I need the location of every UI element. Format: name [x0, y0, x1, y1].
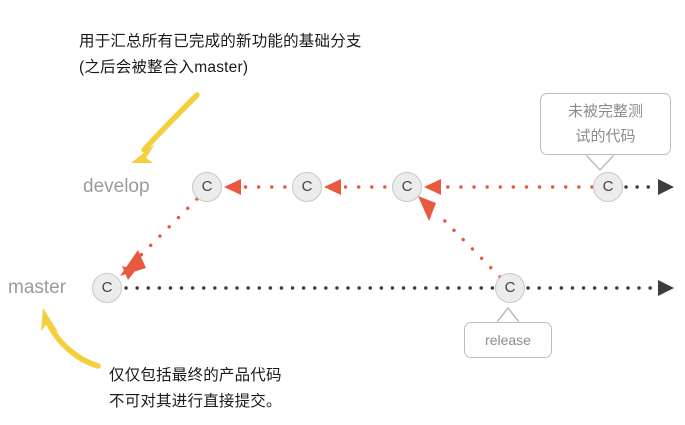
branch-develop-to-master	[120, 199, 197, 276]
commit-node-develop-3[interactable]: C	[392, 172, 422, 202]
highlight-arrow-master	[41, 308, 98, 366]
master-timeline	[126, 280, 674, 296]
callout-release-label: release	[464, 322, 552, 358]
commit-node-develop-4[interactable]: C	[593, 172, 623, 202]
callout-release-tail	[497, 308, 519, 323]
branch-label-master: master	[8, 278, 66, 297]
callout-untested-code: 未被完整测 试的代码	[540, 93, 671, 155]
commit-node-develop-1[interactable]: C	[192, 172, 222, 202]
develop-timeline-tail	[626, 179, 674, 195]
callout-untested-tail	[586, 154, 614, 170]
gitflow-diagram: 用于汇总所有已完成的新功能的基础分支 (之后会被整合入master) 仅仅包括最…	[0, 0, 685, 425]
merge-release-to-develop	[418, 196, 500, 277]
commit-node-develop-2[interactable]: C	[292, 172, 322, 202]
master-annotation-text: 仅仅包括最终的产品代码 不可对其进行直接提交。	[109, 363, 282, 415]
develop-annotation-text: 用于汇总所有已完成的新功能的基础分支 (之后会被整合入master)	[79, 29, 362, 81]
commit-node-master-release[interactable]: C	[495, 273, 525, 303]
highlight-arrow-develop	[131, 95, 197, 163]
branch-label-develop: develop	[83, 177, 150, 196]
commit-node-master-1[interactable]: C	[92, 273, 122, 303]
